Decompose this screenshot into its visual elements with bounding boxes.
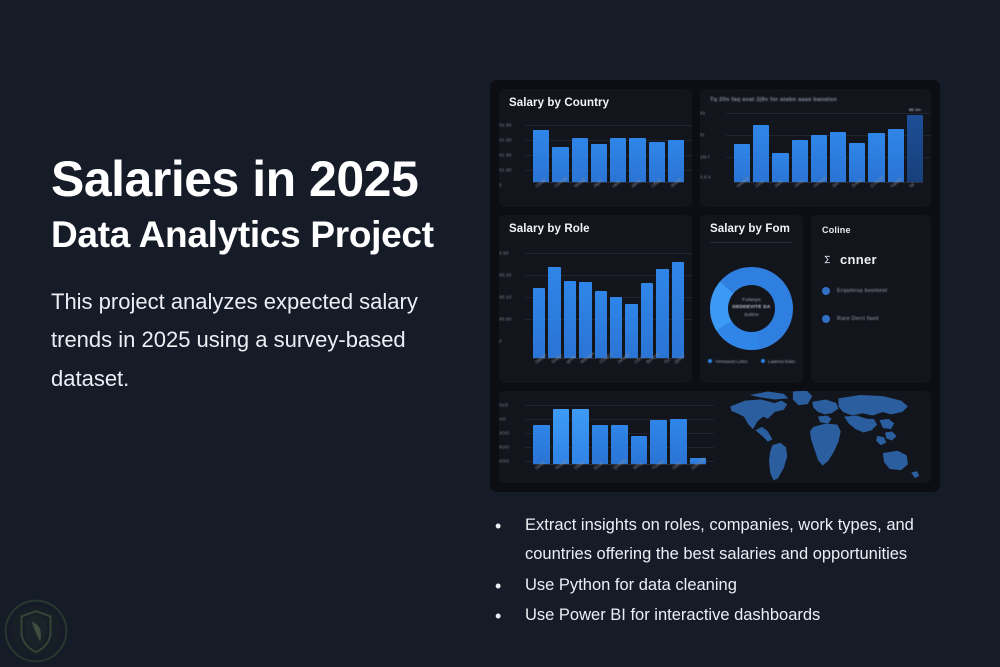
- legend-label: Hrmsssort Lohrs: [715, 359, 747, 364]
- legend-swatch-icon: [761, 359, 766, 364]
- y-axis-tick: 2OO: [499, 459, 509, 464]
- y-axis-tick: AO: [499, 417, 506, 422]
- y-axis-tick: 01.00: [499, 168, 512, 173]
- card-title: Salary by Fom: [700, 215, 803, 235]
- plot-area: [533, 241, 684, 359]
- chart-salary-by-role: 0.00 00.20 00.10 00.00 0 DataxfSnalytqmh…: [499, 235, 692, 377]
- bar: BB 10n: [907, 115, 923, 182]
- bar: [625, 304, 637, 358]
- plot-area: BB 10n: [734, 109, 923, 183]
- card-info-summary: Coline cnner Erqamrsa boomest Rare Derrt…: [811, 215, 931, 383]
- legend-swatch-icon: [708, 359, 713, 364]
- bar: [548, 267, 560, 358]
- chart-salary-by-country: 01.50 01.00 01.50 01.00 0 CautdCunnasWea…: [499, 109, 692, 201]
- x-axis-labels: DtnrdNokddOldan lEowlQtaddqIblngFsnasiOt…: [533, 465, 706, 482]
- kpi-block: cnner: [822, 252, 920, 267]
- dashboard-preview: Salary by Country 01.50 01.00 01.50 01.0…: [490, 80, 940, 492]
- world-map-svg: [720, 391, 925, 483]
- page-title: Salaries in 2025: [51, 152, 471, 206]
- world-map: [714, 391, 931, 483]
- page-subtitle: Data Analytics Project: [51, 214, 471, 257]
- list-item: Extract insights on roles, companies, wo…: [483, 511, 953, 570]
- objectives-list: Extract insights on roles, companies, wo…: [483, 511, 953, 631]
- card-top-paying-bars: Tq 20n faq avat 2j9x for atabn aaae bana…: [700, 89, 931, 207]
- kpi-value: cnner: [840, 252, 877, 267]
- info-row: Rare Derrt faoit: [822, 315, 920, 323]
- x-axis-labels: CautdCunnasWeadtJapniraidtalandCffedJesu…: [533, 183, 684, 200]
- card-title: Tq 20n faq avat 2j9x for atabn aaae bana…: [700, 89, 931, 103]
- bar: [610, 297, 622, 358]
- y-axis-tick: 0,8 k: [700, 175, 711, 180]
- y-axis-tick: 0: [499, 339, 502, 344]
- bar: [753, 125, 769, 182]
- y-axis-tick: 00.00: [499, 317, 512, 322]
- card-title: Salary by Role: [499, 215, 692, 235]
- donut-center-line-2: DEDDEVITE DA: [732, 304, 770, 311]
- bar: [564, 281, 576, 358]
- donut-center-label: Fulanyn DEDDEVITE DA Sulirin: [732, 297, 770, 319]
- y-axis-tick: 01.00: [499, 138, 512, 143]
- donut-ring: Fulanyn DEDDEVITE DA Sulirin: [710, 267, 793, 350]
- donut-legend: Hrmsssort Lohrs Laalmut liolan: [708, 359, 795, 364]
- y-axis-tick: 6OO: [499, 445, 509, 450]
- y-axis-tick: 01.50: [499, 123, 512, 128]
- y-axis-tick: 00.20: [499, 273, 512, 278]
- info-row-label: Erqamrsa boomest: [837, 288, 887, 294]
- donut-center-line-1: Fulanyn: [732, 297, 770, 304]
- y-axis-tick: 0: [499, 183, 502, 188]
- bullet-dot-icon: [822, 287, 830, 295]
- intro-paragraph: This project analyzes expected salary tr…: [51, 283, 471, 399]
- y-axis-tick: 01O: [499, 403, 508, 408]
- card-title: Coline: [822, 225, 920, 235]
- y-axis-tick: 0.00: [499, 251, 509, 256]
- x-axis-labels: raaaaatCinaJaaltAinraAmntadStaJeanaCANGD…: [734, 183, 923, 200]
- y-axis-tick: 00.10: [499, 295, 512, 300]
- x-axis-labels: DataxfSnalytqmhbWanayaCloud sJanannCln f…: [533, 359, 684, 376]
- card-salary-by-role: Salary by Role 0.00 00.20 00.10 00.00 0 …: [499, 215, 692, 383]
- headline-block: Salaries in 2025 Data Analytics Project …: [51, 152, 471, 398]
- bar: [672, 262, 684, 358]
- kafeel-shield-logo-icon: [3, 598, 69, 664]
- info-row: Erqamrsa boomest: [822, 287, 920, 295]
- y-axis-tick: 01.50: [499, 153, 512, 158]
- y-axis-tick: 3OO: [499, 431, 509, 436]
- card-salary-by-country: Salary by Country 01.50 01.00 01.50 01.0…: [499, 89, 692, 207]
- y-axis-tick: 1M f: [700, 155, 710, 160]
- card-bottom-overview: 01O AO 3OO 6OO 2OO DtnrdNokddOldan lEowl…: [499, 391, 931, 483]
- y-axis-tick: f0: [700, 133, 704, 138]
- bar: [579, 282, 591, 358]
- bullet-dot-icon: [822, 315, 830, 323]
- legend-entry: Laalmut liolan: [761, 359, 796, 364]
- chart-salary-by-form-donut: Fulanyn DEDDEVITE DA Sulirin Hrmsssort L…: [700, 243, 803, 383]
- sigma-icon: [822, 254, 833, 265]
- info-row-label: Rare Derrt faoit: [837, 316, 879, 322]
- chart-top-paying: 91 f0 1M f 0,8 k BB 10n raaaaatCinaJaalt…: [700, 103, 931, 201]
- y-axis-tick: 91: [700, 111, 706, 116]
- card-title: Salary by Country: [499, 89, 692, 109]
- chart-bottom-bars: 01O AO 3OO 6OO 2OO DtnrdNokddOldan lEowl…: [499, 391, 714, 483]
- bar: [533, 288, 545, 358]
- donut-center-line-3: Sulirin: [732, 312, 770, 319]
- bar: [595, 291, 607, 358]
- legend-label: Laalmut liolan: [768, 359, 795, 364]
- list-item: Use Python for data cleaning: [483, 571, 953, 600]
- bar: [656, 269, 668, 358]
- card-salary-by-form: Salary by Fom Fulanyn DEDDEVITE DA Sulir…: [700, 215, 803, 383]
- bar: [641, 283, 653, 358]
- legend-entry: Hrmsssort Lohrs: [708, 359, 748, 364]
- bar-value-label: BB 10n: [909, 108, 921, 112]
- list-item: Use Power BI for interactive dashboards: [483, 601, 953, 630]
- slide-root: Salaries in 2025 Data Analytics Project …: [0, 0, 1000, 667]
